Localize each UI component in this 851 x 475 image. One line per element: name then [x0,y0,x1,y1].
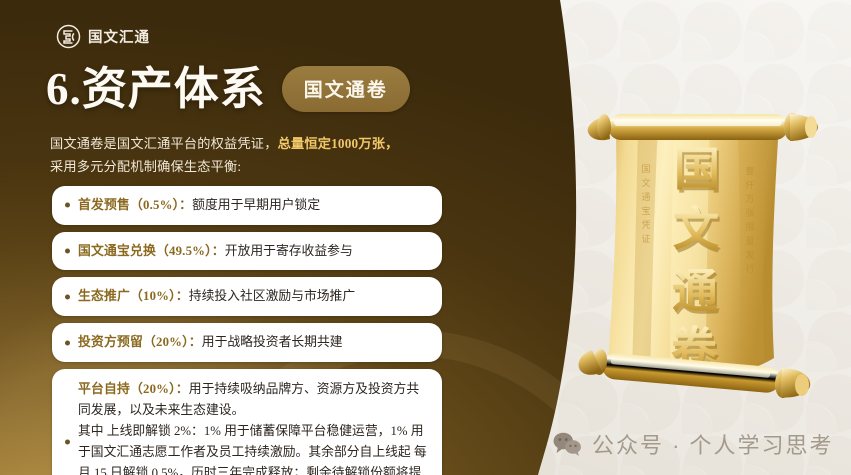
svg-text:通: 通 [672,266,718,317]
self-held-summary: 平台自持（20%）：用于持续吸纳品牌方、资源方及投资方共同发展，以及未来生态建设… [78,379,429,420]
intro-text-part1: 国文通卷是国文汇通平台的权益凭证， [50,136,278,151]
golden-scroll-icon: 国文通 宝凭证 壹仟万 张限量 发行 国 国 文 文 通 通 卷 卷 [578,96,828,406]
list-item[interactable]: 投资方预留（20%）：用于战略投资者长期共建 [52,323,442,362]
title-badge: 国文通卷 [282,66,410,112]
svg-text:国: 国 [641,164,650,174]
svg-text:通: 通 [641,192,650,202]
allocation-key: 投资方预留（20%）： [78,335,202,349]
svg-text:限: 限 [745,222,754,232]
allocation-list: 首发预售（0.5%）：额度用于早期用户锁定 国文通宝兑换（49.5%）：开放用于… [52,186,442,475]
bullet-icon [65,340,70,345]
svg-text:文: 文 [673,204,719,255]
list-item[interactable]: 首发预售（0.5%）：额度用于早期用户锁定 [52,186,442,225]
allocation-key: 生态推广（10%）： [78,289,189,303]
self-held-detail: 其中 上线即解锁 2%：1% 用于储蓄保障平台稳健运营，1% 用于国文汇通志愿工… [78,421,429,475]
svg-text:国: 国 [674,144,720,195]
wechat-icon [552,431,582,457]
watermark-text: 公众号 · 个人学习思考 [592,428,834,460]
intro-paragraph: 国文通卷是国文汇通平台的权益凭证，总量恒定1000万张， 采用多元分配机制确保生… [50,133,450,178]
bullet-icon [65,249,70,254]
intro-text-part2: 采用多元分配机制确保生态平衡: [50,159,241,174]
svg-text:行: 行 [745,263,754,274]
svg-text:仟: 仟 [745,179,754,190]
bullet-icon [65,440,70,445]
svg-text:张: 张 [745,208,754,218]
scroll-rod-top [588,113,818,141]
svg-text:宝: 宝 [641,205,650,216]
slide-root: 国文汇通 6.资产体系 国文通卷 国文通卷是国文汇通平台的权益凭证，总量恒定10… [0,0,851,475]
svg-text:发: 发 [745,249,754,260]
list-item[interactable]: 国文通宝兑换（49.5%）：开放用于寄存收益参与 [52,232,442,271]
allocation-key: 国文通宝兑换（49.5%）： [78,244,225,258]
svg-text:万: 万 [745,194,754,204]
brand-logo: 国文汇通 [56,24,150,49]
svg-text:量: 量 [745,236,754,246]
allocation-value: 用于战略投资者长期共建 [202,335,343,349]
list-item-self-held[interactable]: 平台自持（20%）：用于持续吸纳品牌方、资源方及投资方共同发展，以及未来生态建设… [52,369,442,475]
intro-highlight: 总量恒定1000万张， [278,136,399,151]
allocation-value: 持续投入社区激励与市场推广 [189,289,355,303]
self-held-key: 平台自持（20%）： [78,382,189,396]
seal-emblem-icon [56,24,81,49]
svg-text:凭: 凭 [641,219,650,230]
svg-text:壹: 壹 [745,165,754,176]
svg-text:证: 证 [641,234,650,244]
allocation-value: 开放用于寄存收益参与 [225,244,353,258]
allocation-value: 额度用于早期用户锁定 [192,198,320,212]
list-item[interactable]: 生态推广（10%）：持续投入社区激励与市场推广 [52,277,442,316]
bullet-icon [65,203,70,208]
allocation-key: 首发预售（0.5%）： [78,198,192,212]
svg-text:文: 文 [641,177,650,188]
page-title-row: 6.资产体系 国文通卷 [46,66,410,112]
brand-name-label: 国文汇通 [88,26,150,47]
watermark: 公众号 · 个人学习思考 [552,428,834,460]
page-title: 6.资产体系 [46,67,266,112]
bullet-icon [65,294,70,299]
